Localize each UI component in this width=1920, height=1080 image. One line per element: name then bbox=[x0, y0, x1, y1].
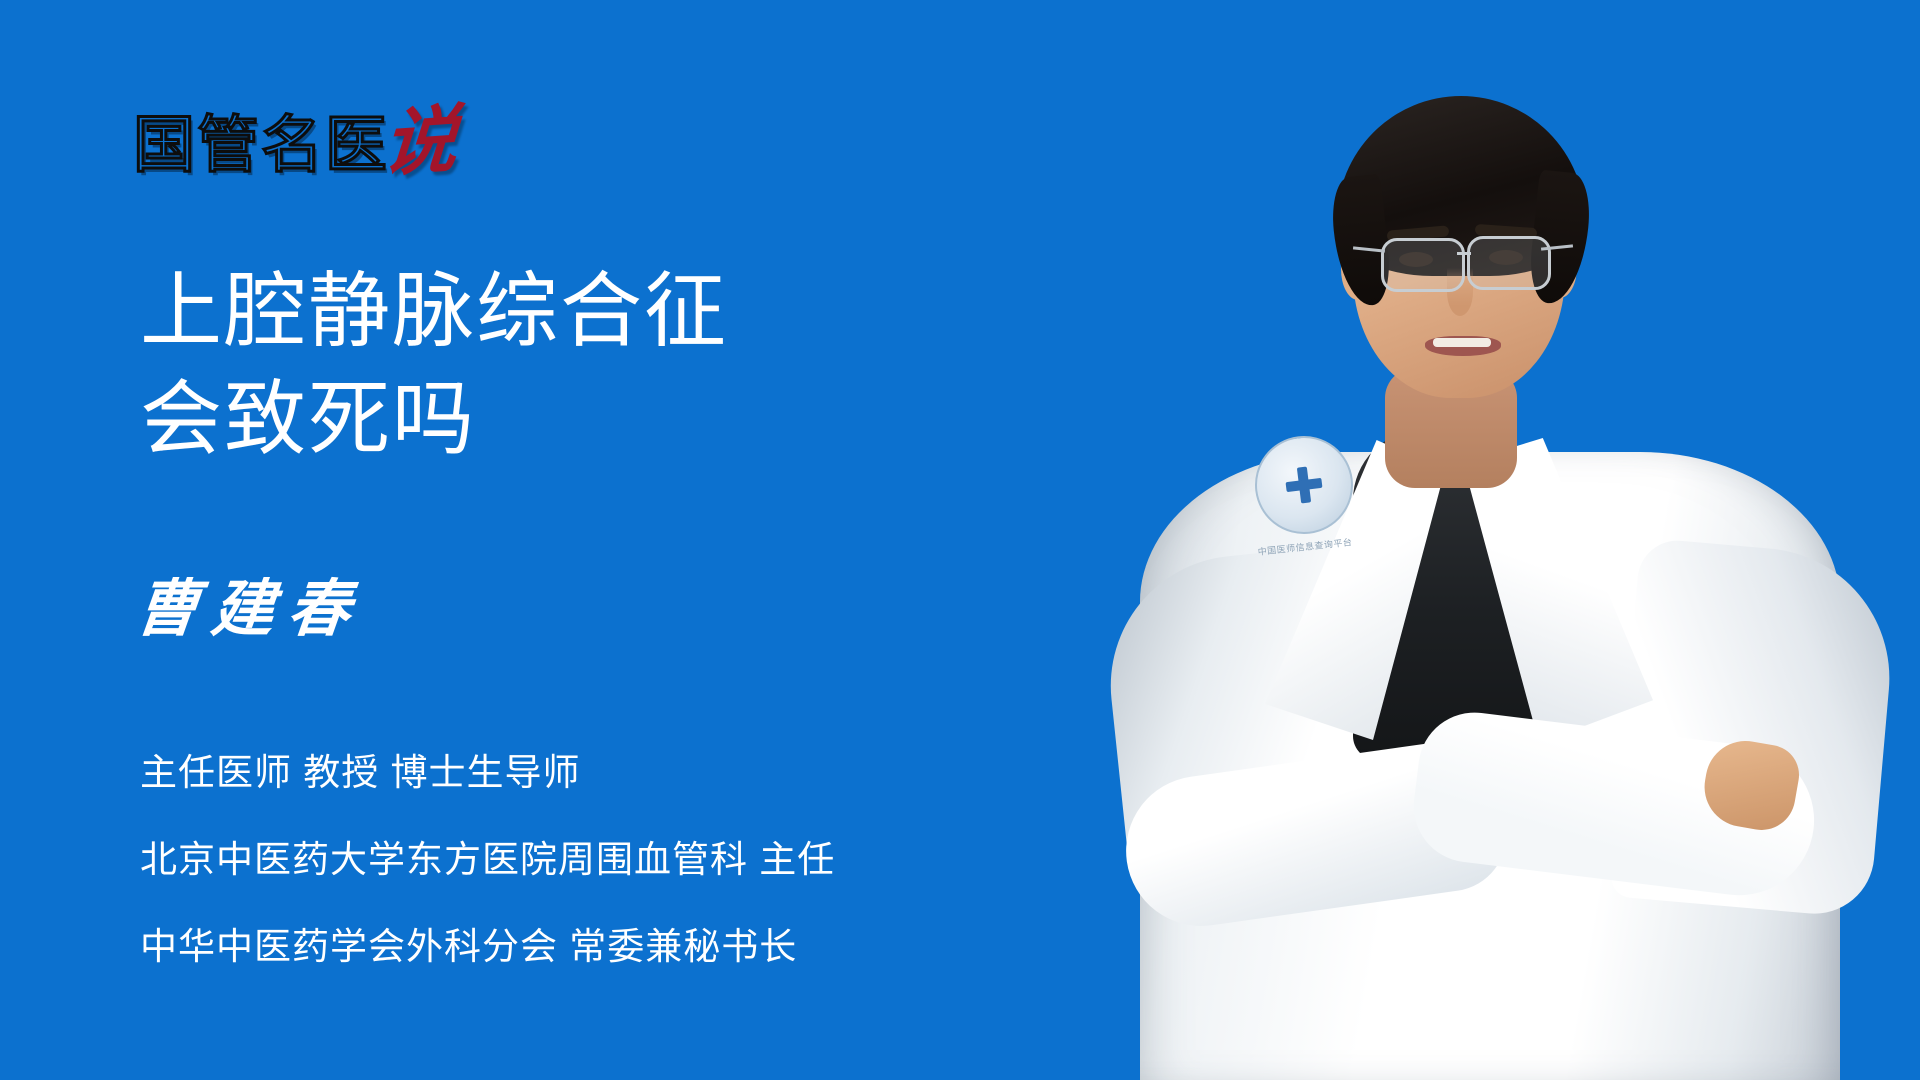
doctor-name: 曹建春 bbox=[133, 578, 368, 640]
eyeglasses-bridge bbox=[1457, 252, 1471, 255]
program-logo: 国管名医 说 bbox=[133, 98, 457, 176]
eyeglasses-lens-right bbox=[1467, 236, 1551, 290]
credential-line-2: 北京中医药大学东方医院周围血管科 主任 bbox=[140, 817, 1140, 904]
eyeglasses-lens-left bbox=[1381, 238, 1465, 292]
credential-line-3: 中华中医药学会外科分会 常委兼秘书长 bbox=[140, 904, 1140, 991]
credential-line-1: 主任医师 教授 博士生导师 bbox=[140, 730, 1140, 817]
promo-banner: 国管名医 说 上腔静脉综合征 会致死吗 曹建春 主任医师 教授 博士生导师 北京… bbox=[0, 0, 1920, 1080]
doctor-credentials: 主任医师 教授 博士生导师 北京中医药大学东方医院周围血管科 主任 中华中医药学… bbox=[140, 730, 1140, 991]
title-line-1: 上腔静脉综合征 bbox=[140, 258, 1040, 366]
program-logo-accent-text: 说 bbox=[380, 105, 459, 178]
teeth bbox=[1433, 338, 1491, 347]
program-logo-main-text: 国管名医 bbox=[133, 114, 389, 176]
medical-cross-icon bbox=[1282, 463, 1327, 508]
title-line-2: 会致死吗 bbox=[140, 366, 1040, 474]
page-title: 上腔静脉综合征 会致死吗 bbox=[140, 258, 1040, 474]
doctor-portrait: 中国医师信息查询平台 bbox=[1085, 0, 1920, 1080]
